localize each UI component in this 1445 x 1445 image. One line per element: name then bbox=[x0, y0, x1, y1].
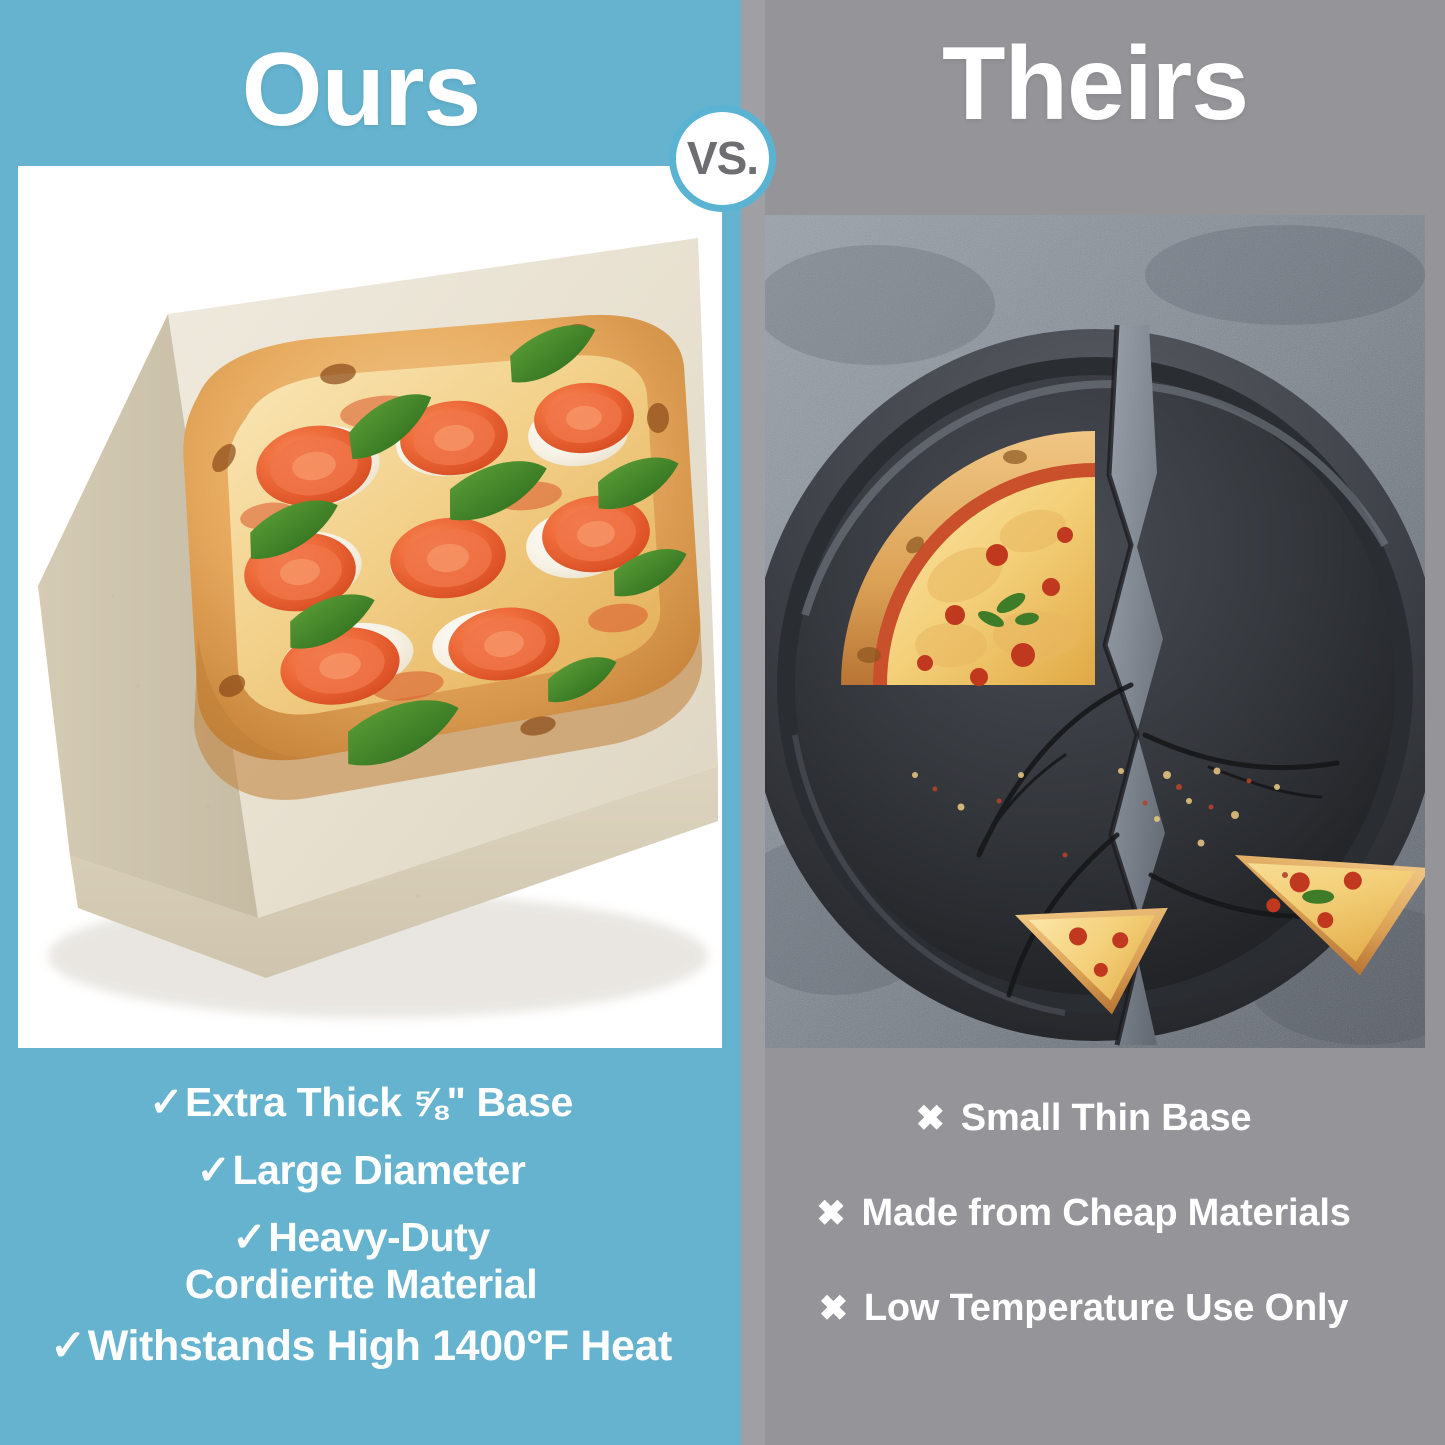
check-icon: ✓ bbox=[197, 1146, 231, 1195]
ours-bullet-2: ✓Large Diameter bbox=[0, 1146, 722, 1195]
check-icon: ✓ bbox=[232, 1214, 266, 1261]
cracked-pan-illustration bbox=[765, 215, 1425, 1048]
theirs-bullet-1-label: Small Thin Base bbox=[961, 1097, 1252, 1139]
check-icon: ✓ bbox=[149, 1078, 183, 1127]
ours-bullet-3: ✓Heavy-Duty Cordierite Material bbox=[0, 1214, 722, 1308]
ours-bullet-4: ✓Withstands High 1400°F Heat bbox=[0, 1322, 722, 1371]
theirs-bullet-2: ✖Made from Cheap Materials bbox=[722, 1190, 1445, 1237]
ours-feature-list: ✓Extra Thick ⅝" Base ✓Large Diameter ✓He… bbox=[0, 1078, 722, 1390]
cracked-metal-pizza-pan-photo bbox=[765, 215, 1425, 1048]
cross-icon: ✖ bbox=[816, 1191, 845, 1237]
versus-badge-icon: VS. bbox=[669, 105, 776, 212]
versus-badge-label: VS. bbox=[687, 135, 758, 181]
theirs-bullet-2-label: Made from Cheap Materials bbox=[862, 1192, 1351, 1234]
theirs-feature-list: ✖Small Thin Base ✖Made from Cheap Materi… bbox=[722, 1095, 1445, 1380]
ours-bullet-1-label: Extra Thick ⅝" Base bbox=[185, 1079, 573, 1125]
ours-bullet-3-label: Heavy-Duty bbox=[268, 1214, 490, 1260]
ours-bullet-3-label-line2: Cordierite Material bbox=[185, 1261, 537, 1307]
check-icon: ✓ bbox=[50, 1322, 86, 1371]
ours-bullet-4-label: Withstands High 1400°F Heat bbox=[88, 1322, 672, 1370]
ours-bullet-1: ✓Extra Thick ⅝" Base bbox=[0, 1078, 722, 1127]
theirs-bullet-3: ✖Low Temperature Use Only bbox=[722, 1285, 1445, 1332]
pizza-stone-illustration bbox=[18, 166, 722, 1048]
theirs-bullet-1: ✖Small Thin Base bbox=[722, 1095, 1445, 1142]
pizza-on-cordierite-stone-photo bbox=[18, 166, 722, 1048]
theirs-bullet-3-label: Low Temperature Use Only bbox=[864, 1287, 1348, 1329]
cross-icon: ✖ bbox=[819, 1286, 848, 1332]
cross-icon: ✖ bbox=[916, 1096, 945, 1142]
comparison-infographic: Ours Theirs VS. bbox=[0, 0, 1445, 1445]
ours-title: Ours bbox=[0, 38, 722, 142]
ours-bullet-2-label: Large Diameter bbox=[233, 1147, 526, 1193]
theirs-title: Theirs bbox=[765, 32, 1425, 136]
